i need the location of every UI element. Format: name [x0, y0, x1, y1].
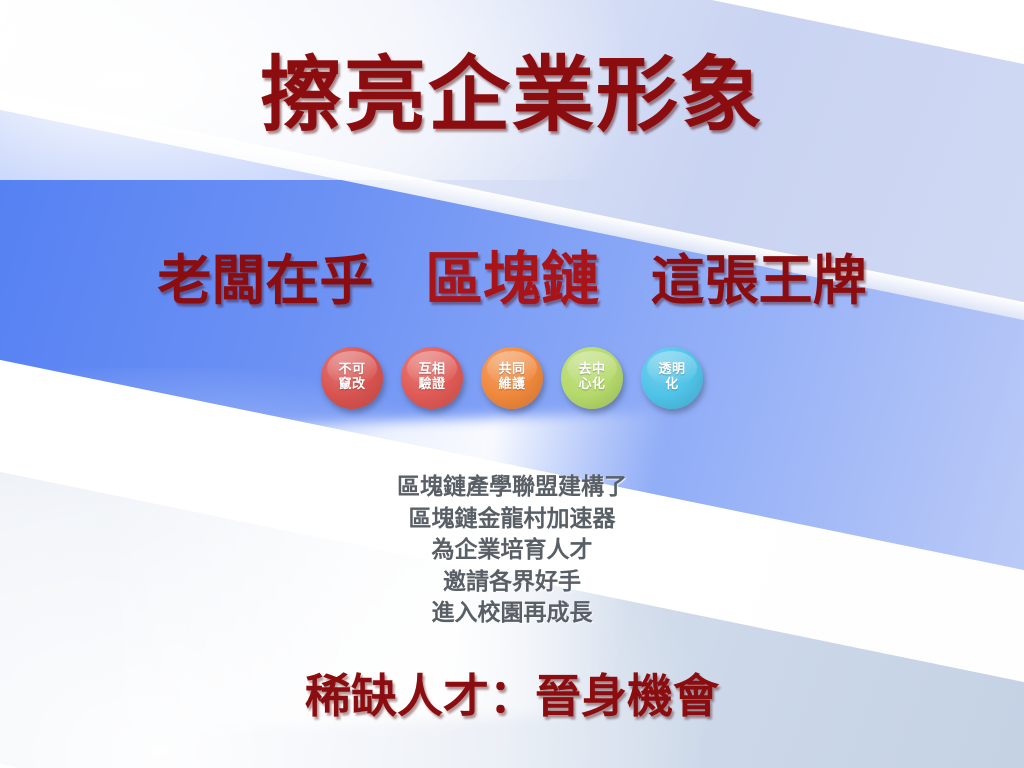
feature-circle-line-1: 不可 [338, 363, 365, 378]
body-line: 為企業培育人才 [0, 535, 1024, 567]
feature-circle-line-2: 驗證 [418, 378, 445, 393]
feature-circle-line-2: 維護 [498, 378, 525, 393]
feature-circle-mutual-verify[interactable]: 互相 驗證 [401, 347, 463, 409]
feature-circle-line-1: 透明 [658, 363, 685, 378]
slide-canvas: 擦亮企業形象 老闆在乎 區塊鏈 這張王牌 不可 竄改 互相 驗證 共同 維護 去… [0, 0, 1024, 768]
feature-circle-co-maintained[interactable]: 共同 維護 [481, 347, 543, 409]
body-line: 邀請各界好手 [0, 567, 1024, 599]
slide-content: 擦亮企業形象 老闆在乎 區塊鏈 這張王牌 不可 竄改 互相 驗證 共同 維護 去… [0, 0, 1024, 768]
body-line: 區塊鏈產學聯盟建構了 [0, 472, 1024, 504]
subtitle-highlight: 區塊鏈 [425, 245, 599, 313]
slide-body-text: 區塊鏈產學聯盟建構了 區塊鏈金龍村加速器 為企業培育人才 邀請各界好手 進入校園… [0, 472, 1024, 630]
body-line: 進入校園再成長 [0, 598, 1024, 630]
feature-circle-line-1: 互相 [418, 363, 445, 378]
slide-title: 擦亮企業形象 [0, 52, 1024, 141]
feature-circle-line-2: 化 [665, 378, 679, 393]
feature-circle-decentralized[interactable]: 去中 心化 [561, 347, 623, 409]
feature-circle-line-1: 共同 [498, 363, 525, 378]
feature-circle-row: 不可 竄改 互相 驗證 共同 維護 去中 心化 透明 化 [0, 347, 1024, 409]
body-line: 區塊鏈金龍村加速器 [0, 504, 1024, 536]
subtitle-prefix: 老闆在乎 [157, 249, 373, 312]
feature-circle-line-2: 心化 [578, 378, 605, 393]
feature-circle-immutable[interactable]: 不可 竄改 [321, 347, 383, 409]
feature-circle-line-2: 竄改 [338, 378, 365, 393]
feature-circle-transparent[interactable]: 透明 化 [641, 347, 703, 409]
feature-circle-line-1: 去中 [578, 363, 605, 378]
slide-subtitle: 老闆在乎 區塊鏈 這張王牌 [0, 248, 1024, 312]
subtitle-suffix: 這張王牌 [651, 249, 867, 312]
slide-footer-line: 稀缺人才：晉身機會 [0, 660, 1024, 726]
